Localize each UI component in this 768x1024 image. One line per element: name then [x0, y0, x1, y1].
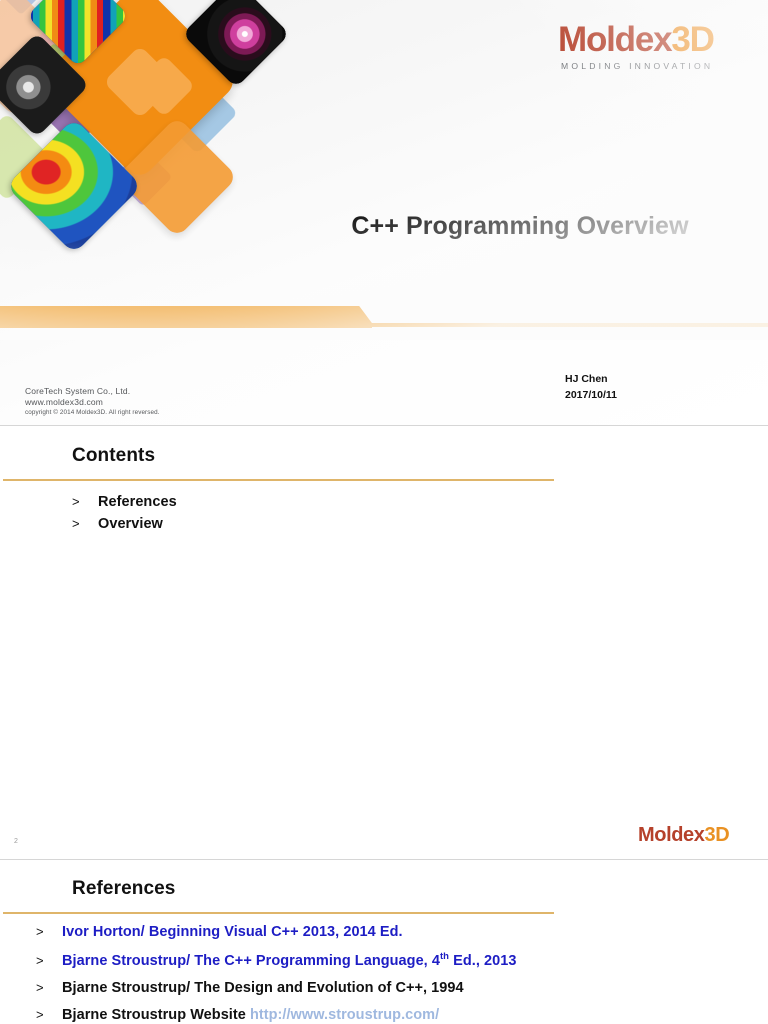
reference-text-before: Bjarne Stroustrup/ The C++ Programming L…: [62, 953, 440, 969]
reference-ordinal-suffix: th: [440, 951, 449, 962]
bullet-marker-icon: >: [72, 516, 98, 531]
footer-company-info: CoreTech System Co., Ltd. www.moldex3d.c…: [25, 386, 160, 417]
reference-text-before: Bjarne Stroustrup Website: [62, 1007, 250, 1023]
logo-text-3d: 3D: [705, 824, 730, 846]
contents-heading: Contents: [72, 445, 155, 467]
footer-date: 2017/10/11: [565, 387, 617, 403]
moldex3d-logo-small: Moldex3D: [638, 824, 729, 847]
logo-text-moldex: Moldex: [638, 824, 705, 846]
contents-item-label: Overview: [98, 516, 163, 532]
orange-divider-bar: [0, 306, 768, 330]
contents-item-label: References: [98, 494, 177, 510]
footer-author-block: HJ Chen 2017/10/11: [565, 371, 617, 404]
references-heading: References: [72, 878, 175, 900]
logo-text-moldex: Moldex: [558, 20, 671, 59]
reference-item-label: Bjarne Stroustrup/ The Design and Evolut…: [62, 980, 464, 996]
contents-heading-rule: [3, 479, 554, 481]
slide-title: Moldex3D MOLDING INNOVATION C++ Programm…: [0, 0, 768, 426]
reference-item-label: Bjarne Stroustrup/ The C++ Programming L…: [62, 951, 516, 969]
reference-url-link[interactable]: http://www.stroustrup.com/: [250, 1007, 439, 1023]
footer-author: HJ Chen: [565, 371, 617, 387]
orange-bar-thick: [0, 306, 360, 328]
contents-list: > References > Overview: [72, 494, 177, 538]
reference-item-label: Ivor Horton/ Beginning Visual C++ 2013, …: [62, 924, 403, 940]
bullet-marker-icon: >: [36, 980, 62, 995]
logo-tagline: MOLDING INNOVATION: [561, 61, 714, 71]
slide-contents: Contents > References > Overview 2 Molde…: [0, 426, 768, 860]
slide-number: 2: [14, 838, 18, 845]
moldex3d-logo: Moldex3D MOLDING INNOVATION: [558, 22, 714, 71]
footer-copyright: copyright © 2014 Moldex3D. All right rev…: [25, 409, 160, 418]
references-heading-rule: [3, 912, 554, 914]
decorative-collage: [0, 0, 322, 266]
bullet-marker-icon: >: [72, 494, 98, 509]
page-title: C++ Programming Overview: [300, 212, 740, 241]
reference-text-after: Ed., 2013: [449, 953, 516, 969]
references-list: > Ivor Horton/ Beginning Visual C++ 2013…: [36, 924, 516, 1023]
reference-item-label: Bjarne Stroustrup Website http://www.str…: [62, 1007, 439, 1023]
list-item[interactable]: > Ivor Horton/ Beginning Visual C++ 2013…: [36, 924, 516, 940]
footer-company-name: CoreTech System Co., Ltd.: [25, 386, 160, 397]
footer-website[interactable]: www.moldex3d.com: [25, 397, 160, 408]
slide-references: References > Ivor Horton/ Beginning Visu…: [0, 860, 768, 1024]
list-item[interactable]: > Bjarne Stroustrup/ The C++ Programming…: [36, 951, 516, 969]
logo-text-3d: 3D: [671, 20, 713, 59]
list-item[interactable]: > Bjarne Stroustrup Website http://www.s…: [36, 1007, 516, 1023]
bullet-marker-icon: >: [36, 924, 62, 939]
bullet-marker-icon: >: [36, 1007, 62, 1022]
list-item[interactable]: > Bjarne Stroustrup/ The Design and Evol…: [36, 980, 516, 996]
bullet-marker-icon: >: [36, 953, 62, 968]
list-item[interactable]: > Overview: [72, 516, 177, 532]
presentation-document: Moldex3D MOLDING INNOVATION C++ Programm…: [0, 0, 768, 1024]
orange-bar-thin: [360, 323, 768, 327]
list-item[interactable]: > References: [72, 494, 177, 510]
